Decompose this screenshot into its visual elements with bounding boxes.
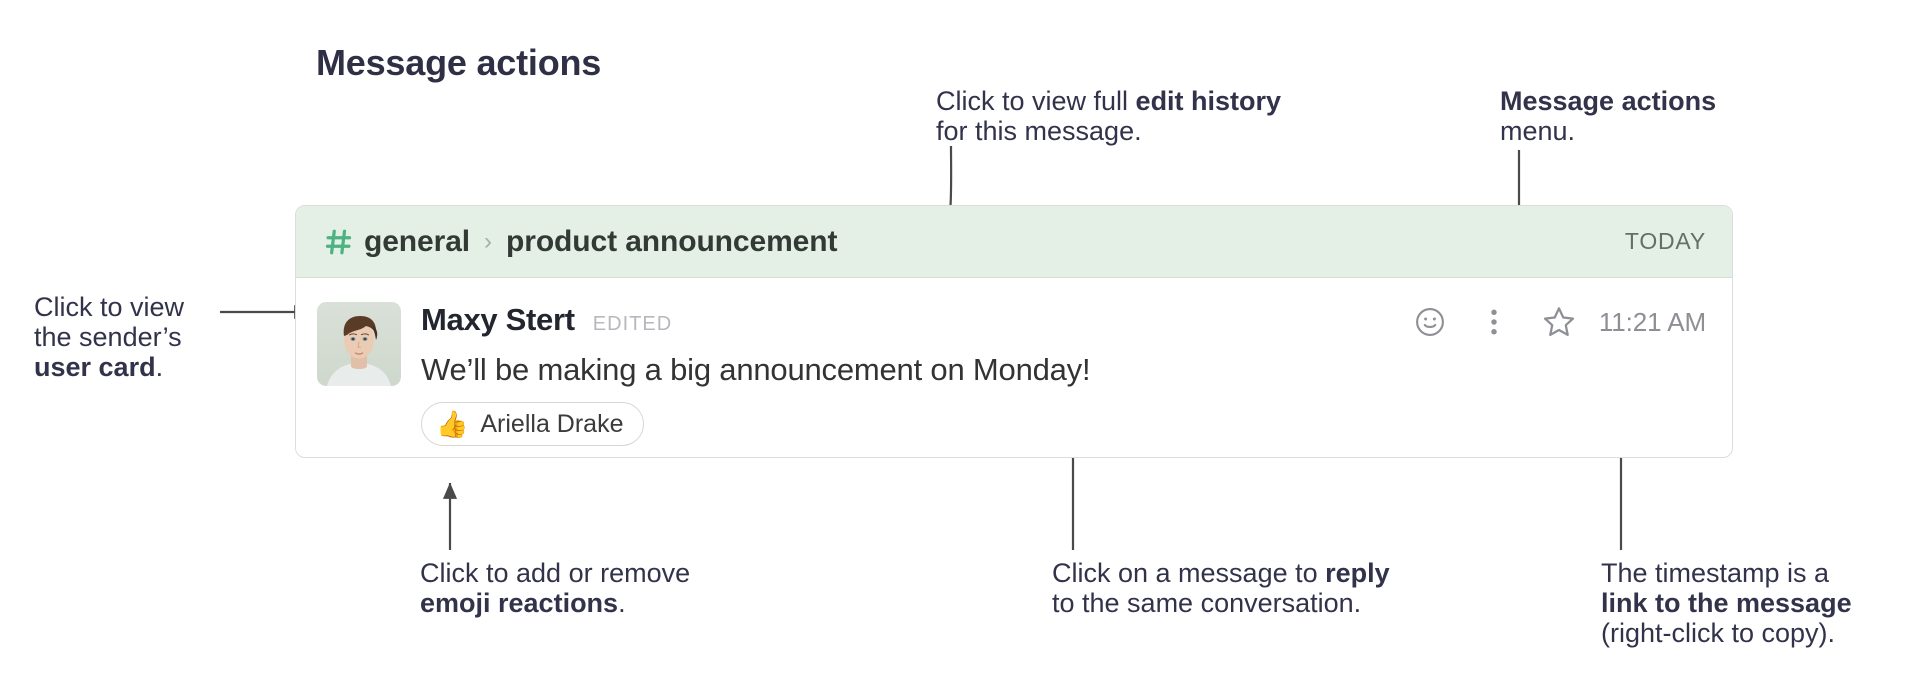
annotation-timestamp-strong: link to the message xyxy=(1601,588,1852,618)
reaction-list: 👍 Ariella Drake xyxy=(421,402,1732,446)
page-title: Message actions xyxy=(316,42,601,84)
annotation-emoji-post: . xyxy=(618,588,626,618)
message-actions-menu-icon[interactable] xyxy=(1481,305,1507,339)
stream-name[interactable]: general xyxy=(364,225,470,259)
annotation-timestamp-link: The timestamp is a link to the message (… xyxy=(1601,558,1852,649)
star-icon[interactable] xyxy=(1541,304,1577,340)
reaction-pill[interactable]: 👍 Ariella Drake xyxy=(421,402,644,446)
emoji-reaction-icon[interactable] xyxy=(1413,305,1447,339)
annotation-timestamp-pre: The timestamp is a xyxy=(1601,558,1829,588)
message-controls: 11:21 AM xyxy=(1413,304,1706,340)
annotation-edit-history: Click to view full edit history for this… xyxy=(936,86,1281,146)
annotation-actions-menu-post: menu. xyxy=(1500,116,1575,146)
annotation-actions-menu: Message actions menu. xyxy=(1500,86,1716,146)
annotation-reply-strong: reply xyxy=(1325,558,1390,588)
message-timestamp[interactable]: 11:21 AM xyxy=(1599,307,1706,338)
thumbs-up-icon: 👍 xyxy=(436,411,468,437)
message-row[interactable]: Maxy Stert EDITED We’ll be making a big … xyxy=(296,278,1732,446)
edited-badge[interactable]: EDITED xyxy=(593,313,672,336)
avatar[interactable] xyxy=(317,302,401,386)
annotation-reply: Click on a message to reply to the same … xyxy=(1052,558,1390,618)
annotation-edit-history-pre: Click to view full xyxy=(936,86,1136,116)
annotation-emoji-strong: emoji reactions xyxy=(420,588,618,618)
hash-icon xyxy=(324,227,354,257)
message-body-text[interactable]: We’ll be making a big announcement on Mo… xyxy=(421,352,1732,388)
annotation-user-card: Click to view the sender’s user card. xyxy=(34,292,184,383)
topic-name[interactable]: product announcement xyxy=(506,225,837,259)
breadcrumb-separator-icon: › xyxy=(484,230,492,254)
annotation-reply-pre: Click on a message to xyxy=(1052,558,1325,588)
annotation-reply-post: to the same conversation. xyxy=(1052,588,1361,618)
annotation-user-card-strong: user card xyxy=(34,352,156,382)
message-card: general › product announcement TODAY xyxy=(295,205,1733,458)
annotation-timestamp-post: (right-click to copy). xyxy=(1601,618,1835,648)
annotation-edit-history-strong: edit history xyxy=(1136,86,1282,116)
annotation-emoji-pre: Click to add or remove xyxy=(420,558,690,588)
stream-topic-bar: general › product announcement TODAY xyxy=(296,206,1732,278)
annotation-edit-history-post: for this message. xyxy=(936,116,1142,146)
date-label: TODAY xyxy=(1625,228,1706,255)
annotation-user-card-pre: Click to view the sender’s xyxy=(34,292,184,352)
annotation-emoji-reactions: Click to add or remove emoji reactions. xyxy=(420,558,690,618)
annotation-actions-menu-strong: Message actions xyxy=(1500,86,1716,116)
reaction-label: Ariella Drake xyxy=(480,410,623,439)
annotation-user-card-post: . xyxy=(156,352,164,382)
sender-name[interactable]: Maxy Stert xyxy=(421,302,575,338)
